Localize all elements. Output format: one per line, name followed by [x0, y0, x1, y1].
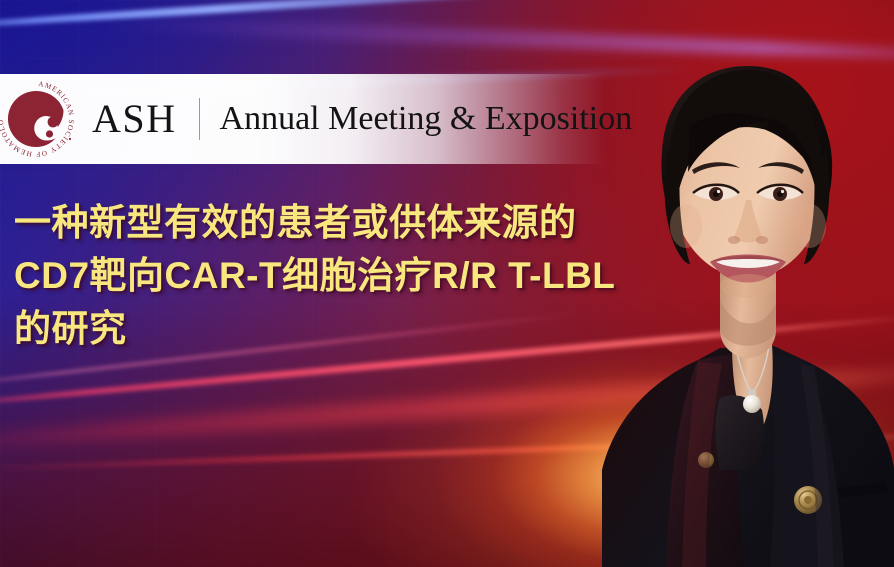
light-streak-violet [0, 6, 894, 66]
light-streak-blue-upper [0, 0, 894, 35]
ash-wordmark: ASH [92, 99, 177, 139]
ash-banner: AMERICAN SOCIETY OF HEMATOLOGY ASH Annua… [0, 74, 604, 164]
title-line-2: CD7靶向CAR-T细胞治疗R/R T-LBL [14, 249, 714, 302]
title-line-3: 的研究 [14, 302, 714, 355]
ash-subtitle: Annual Meeting & Exposition [220, 102, 633, 136]
banner-divider [199, 98, 200, 140]
light-streak-red-broad [0, 356, 894, 458]
slide-title: 一种新型有效的患者或供体来源的 CD7靶向CAR-T细胞治疗R/R T-LBL … [14, 196, 714, 355]
ash-logo-icon: AMERICAN SOCIETY OF HEMATOLOGY [0, 77, 78, 161]
title-line-1: 一种新型有效的患者或供体来源的 [14, 196, 714, 249]
presentation-slide: AMERICAN SOCIETY OF HEMATOLOGY ASH Annua… [0, 0, 894, 567]
light-streak-red-thin [0, 430, 894, 475]
